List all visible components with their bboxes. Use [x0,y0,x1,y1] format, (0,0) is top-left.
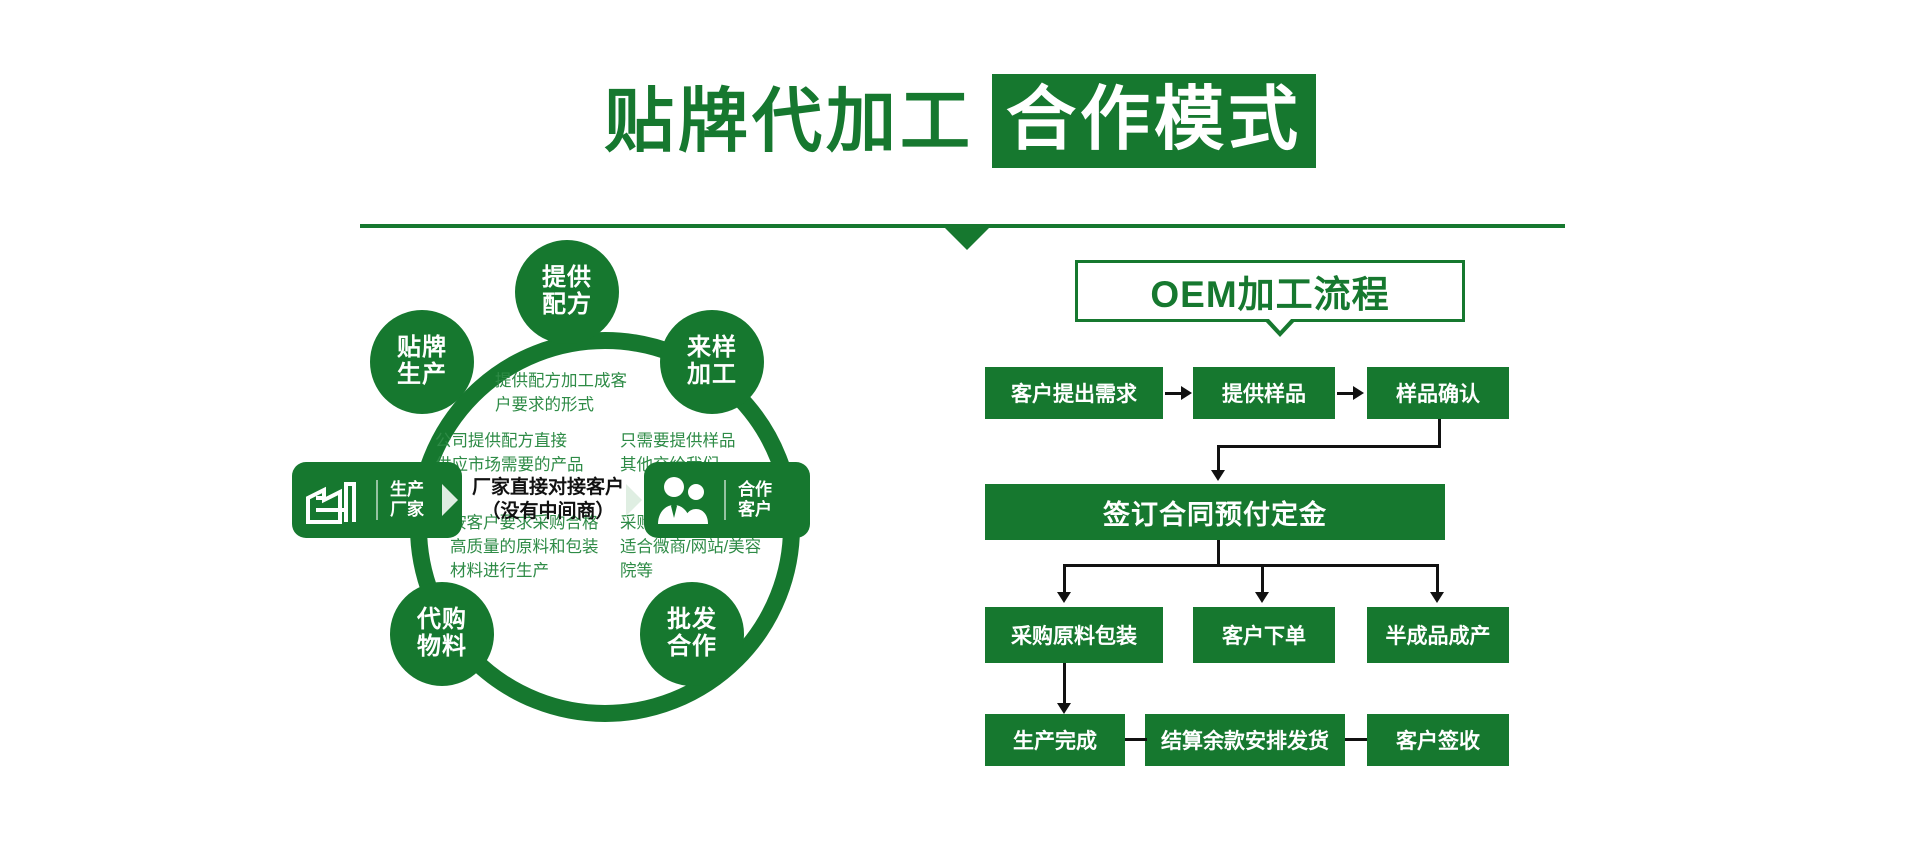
bubble-line2: 合作 [667,634,717,661]
flow-step-provide-sample[interactable]: 提供样品 [1193,367,1335,419]
arrow-down-icon-5 [1057,703,1071,714]
bubble-line2: 配方 [542,292,592,319]
page-title: 贴牌代加工合作模式 [0,74,1920,168]
connector-r4-a [1125,738,1147,741]
connector-h-2 [1063,564,1439,567]
flow-step-customer-order[interactable]: 客户下单 [1193,607,1335,663]
factory-icon [302,472,368,528]
connector-down-4 [1063,564,1066,594]
infographic-canvas: 贴牌代加工合作模式 提供 配方 贴牌 生产 来样 加工 代购 物料 批发 合作 [0,0,1920,857]
bubble-line1: 代购 [417,607,467,634]
factory-pill[interactable]: 生产 厂家 [292,462,462,538]
flow-step-customer-request[interactable]: 客户提出需求 [985,367,1163,419]
bubble-line1: 来样 [687,335,737,362]
bubble-line1: 贴牌 [397,335,447,362]
connector-h-1 [1217,445,1441,448]
cycle-note-top: 提供配方加工成客 户要求的形式 [495,370,710,418]
cycle-bubble-top[interactable]: 提供 配方 [515,240,619,344]
flow-step-sample-confirm[interactable]: 样品确认 [1367,367,1509,419]
factory-label: 生产 厂家 [376,480,424,521]
divider-notch-icon [945,228,989,250]
bubble-line1: 提供 [542,265,592,292]
center-message-line2: （没有中间商） [481,500,614,524]
connector-r4-b [1345,738,1367,741]
connector-down-7 [1063,663,1066,705]
arrow-right-icon-1 [1181,386,1192,400]
arrow-down-icon-3 [1255,592,1269,603]
flow-step-purchase-materials[interactable]: 采购原料包装 [985,607,1163,663]
chevron-right-icon-left [442,484,458,516]
flow-step-semi-finished[interactable]: 半成品成产 [1367,607,1509,663]
title-highlight: 合作模式 [992,74,1316,168]
arrow-down-icon-4 [1430,592,1444,603]
bubble-line2: 生产 [397,362,447,389]
flow-step-sign-contract[interactable]: 签订合同预付定金 [985,484,1445,540]
connector-down-5 [1261,564,1264,594]
flow-step-customer-receive[interactable]: 客户签收 [1367,714,1509,766]
customers-pill[interactable]: 合作 客户 [644,462,810,538]
cycle-bubble-top-left[interactable]: 贴牌 生产 [370,310,474,414]
cycle-diagram: 提供 配方 贴牌 生产 来样 加工 代购 物料 批发 合作 提供配方加工成客 户… [350,262,870,792]
customers-icon [650,472,716,528]
customers-label: 合作 客户 [724,480,772,521]
center-message-line1: 厂家直接对接客户 [472,476,624,500]
oem-flowchart: OEM加工流程 客户提出需求 提供样品 样品确认 签订合同预付定金 采购原料包装… [985,262,1585,792]
cycle-bubble-bottom-left[interactable]: 代购 物料 [390,582,494,686]
connector-down-6 [1436,564,1439,594]
arrow-right-icon-2 [1353,386,1364,400]
bubble-line2: 物料 [417,634,467,661]
flow-step-production-done[interactable]: 生产完成 [985,714,1125,766]
bubble-line1: 批发 [667,607,717,634]
flow-step-settle-and-ship[interactable]: 结算余款安排发货 [1145,714,1345,766]
arrow-down-icon-1 [1211,470,1225,481]
title-main: 贴牌代加工 [604,82,974,160]
connector-down-1 [1438,419,1441,447]
center-message: 厂家直接对接客户 （没有中间商） [460,462,636,538]
cycle-bubble-bottom-right[interactable]: 批发 合作 [640,582,744,686]
connector-down-2 [1217,445,1220,473]
chevron-right-icon-right [626,484,642,516]
center-band: 生产 厂家 厂家直接对接客户 （没有中间商） 合作 客 [292,462,804,538]
connector-down-3 [1217,540,1220,566]
oem-heading-box: OEM加工流程 [1075,260,1465,322]
arrow-down-icon-2 [1057,592,1071,603]
oem-notch-inner-icon [1268,318,1292,331]
oem-heading: OEM加工流程 [1150,264,1389,318]
